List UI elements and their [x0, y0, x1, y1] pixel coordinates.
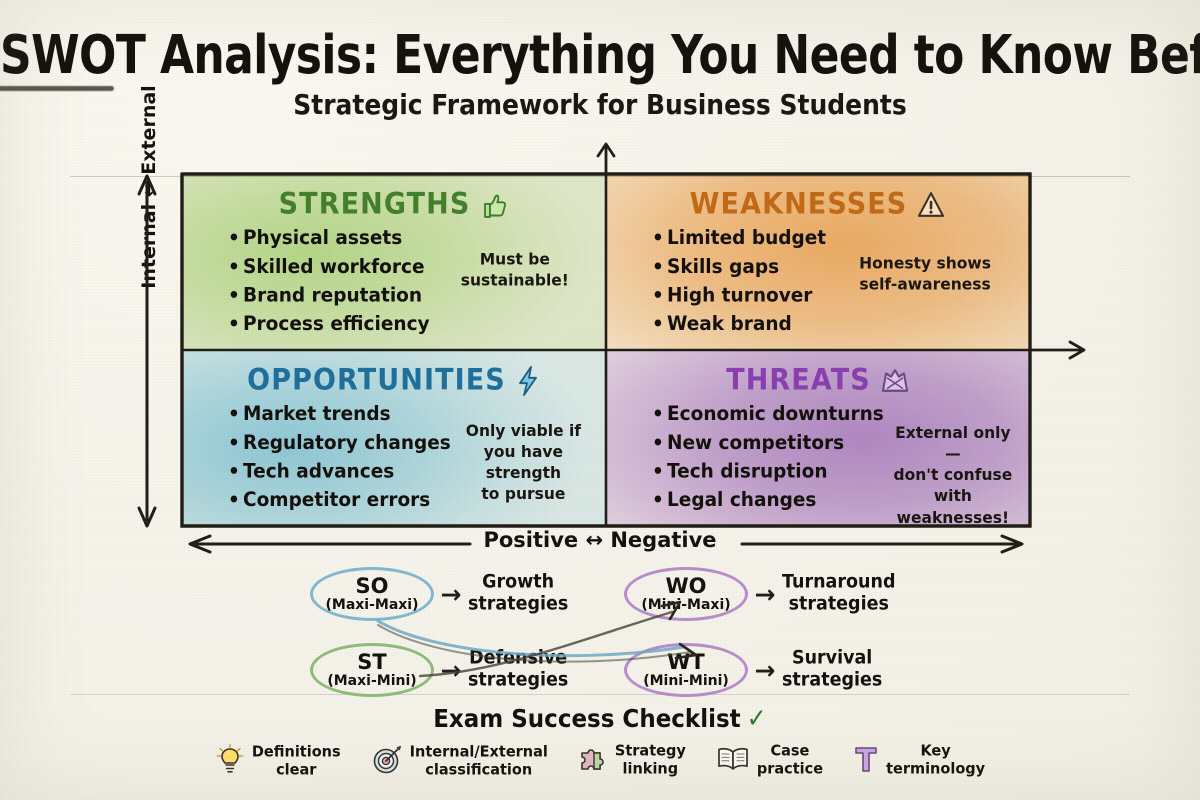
arrow-right-icon: → [748, 658, 782, 683]
arrow-right-icon: → [434, 582, 468, 607]
list-item: Weak brand [652, 310, 826, 339]
strategy-so[interactable]: SO (Maxi-Maxi) → Growth strategies [310, 567, 568, 621]
target-icon [371, 744, 403, 780]
weaknesses-heading: WEAKNESSES [606, 188, 1030, 221]
list-item: Tech advances [228, 457, 451, 486]
checklist-item-case-practice[interactable]: Case practice [716, 744, 823, 779]
strategy-ellipse-wt[interactable]: WT (Mini-Mini) [624, 643, 748, 697]
quadrant-opportunities[interactable]: OPPORTUNITIES Market trends Regulatory c… [182, 350, 606, 526]
opportunities-list: Market trends Regulatory changes Tech ad… [182, 400, 451, 514]
crown-icon [880, 364, 910, 396]
list-item: Market trends [228, 400, 451, 429]
list-item: Physical assets [228, 224, 430, 253]
opportunities-heading: OPPORTUNITIES [182, 364, 606, 397]
quadrant-strengths[interactable]: STRENGTHS Physical assets Skilled workfo… [182, 174, 606, 350]
thumbs-up-icon [479, 189, 509, 219]
strategy-ellipse-st[interactable]: ST (Maxi-Mini) [310, 643, 434, 697]
list-item: Competitor errors [228, 486, 451, 515]
strategy-label: Turnaround strategies [782, 572, 895, 616]
strategy-label: Growth strategies [468, 572, 568, 616]
strengths-heading-text: STRENGTHS [279, 188, 471, 221]
arrow-right-icon: → [748, 582, 782, 607]
checklist-item-classification[interactable]: Internal/External classification [371, 744, 548, 780]
swot-poster: SWOT Analysis: Everything You Need to Kn… [0, 0, 1200, 800]
list-item: Regulatory changes [228, 429, 451, 458]
check-mark-icon: ✓ [747, 703, 767, 734]
checklist-items: Definitions clear Internal/External clas… [0, 744, 1200, 780]
list-item: Skilled workforce [228, 253, 430, 282]
strategy-st[interactable]: ST (Maxi-Mini) → Defensive strategies [310, 643, 568, 697]
checklist-item-label: Strategy linking [615, 743, 686, 780]
lightbulb-icon [215, 744, 245, 780]
strengths-list: Physical assets Skilled workforce Brand … [182, 224, 430, 338]
list-item: Tech disruption [652, 457, 884, 486]
page-title: SWOT Analysis: Everything You Need to Kn… [0, 24, 1200, 86]
bottom-rule-line [70, 694, 1130, 695]
threats-heading: THREATS [606, 364, 1030, 397]
quadrant-threats[interactable]: THREATS Economic downturns New competito… [606, 350, 1030, 526]
opportunities-heading-text: OPPORTUNITIES [247, 364, 506, 397]
arrow-right-icon: → [434, 658, 468, 683]
list-item: Economic downturns [652, 400, 884, 429]
threats-note: External only — don't confuse with weakn… [884, 397, 1030, 526]
puzzle-piece-icon [578, 744, 608, 778]
checklist-item-strategy-linking[interactable]: Strategy linking [578, 744, 686, 779]
strengths-note: Must be sustainable! [430, 221, 606, 334]
lightning-bolt-icon [515, 364, 541, 396]
checklist-item-label: Case practice [757, 743, 823, 780]
strengths-heading: STRENGTHS [182, 188, 606, 221]
letter-t-icon [853, 744, 879, 778]
open-book-icon [716, 745, 750, 777]
checklist-item-key-terminology[interactable]: Key terminology [853, 744, 985, 779]
strategy-sub: (Maxi-Mini) [327, 674, 416, 689]
swot-matrix: STRENGTHS Physical assets Skilled workfo… [182, 174, 1030, 526]
axis-label-horizontal: Positive ↔ Negative [0, 528, 1200, 552]
strategy-label: Survival strategies [782, 648, 882, 692]
checklist-item-definitions[interactable]: Definitions clear [215, 744, 341, 780]
list-item: Limited budget [652, 224, 826, 253]
checklist-item-label: Internal/External classification [410, 744, 548, 781]
strategy-sub: (Mini-Mini) [643, 674, 729, 689]
strategy-wo[interactable]: WO (Mini-Maxi) → Turnaround strategies [624, 567, 895, 621]
strategy-ellipse-wo[interactable]: WO (Mini-Maxi) [624, 567, 748, 621]
strategy-wt[interactable]: WT (Mini-Mini) → Survival strategies [624, 643, 882, 697]
list-item: Process efficiency [228, 310, 430, 339]
list-item: Legal changes [652, 486, 884, 515]
axis-label-vertical: Internal ↔ External [138, 12, 160, 362]
list-item: Skills gaps [652, 253, 826, 282]
strategy-label: Defensive strategies [468, 648, 568, 692]
threats-list: Economic downturns New competitors Tech … [606, 400, 884, 526]
strategy-code: ST [357, 651, 386, 673]
list-item: Brand reputation [228, 281, 430, 310]
weaknesses-heading-text: WEAKNESSES [690, 188, 908, 221]
threats-heading-text: THREATS [726, 364, 871, 397]
list-item: New competitors [652, 429, 884, 458]
warning-triangle-icon [916, 189, 946, 219]
strategy-ellipse-so[interactable]: SO (Maxi-Maxi) [310, 567, 434, 621]
strategy-sub: (Mini-Maxi) [641, 598, 730, 613]
weaknesses-note: Honesty shows self-awareness [826, 221, 1030, 334]
quadrant-weaknesses[interactable]: WEAKNESSES Limited budget Skills gaps Hi… [606, 174, 1030, 350]
strategy-code: WT [667, 651, 705, 673]
strategy-code: SO [356, 575, 389, 597]
checklist-title: Exam Success Checklist✓ [0, 703, 1200, 734]
opportunities-note: Only viable if you have strength to purs… [451, 397, 606, 510]
list-item: High turnover [652, 281, 826, 310]
strategy-sub: (Maxi-Maxi) [325, 598, 418, 613]
checklist-title-text: Exam Success Checklist [433, 705, 740, 734]
checklist-item-label: Key terminology [886, 743, 985, 780]
page-subtitle: Strategic Framework for Business Student… [0, 88, 1200, 120]
weaknesses-list: Limited budget Skills gaps High turnover… [606, 224, 826, 338]
strategy-code: WO [665, 575, 706, 597]
checklist-item-label: Definitions clear [252, 744, 341, 781]
